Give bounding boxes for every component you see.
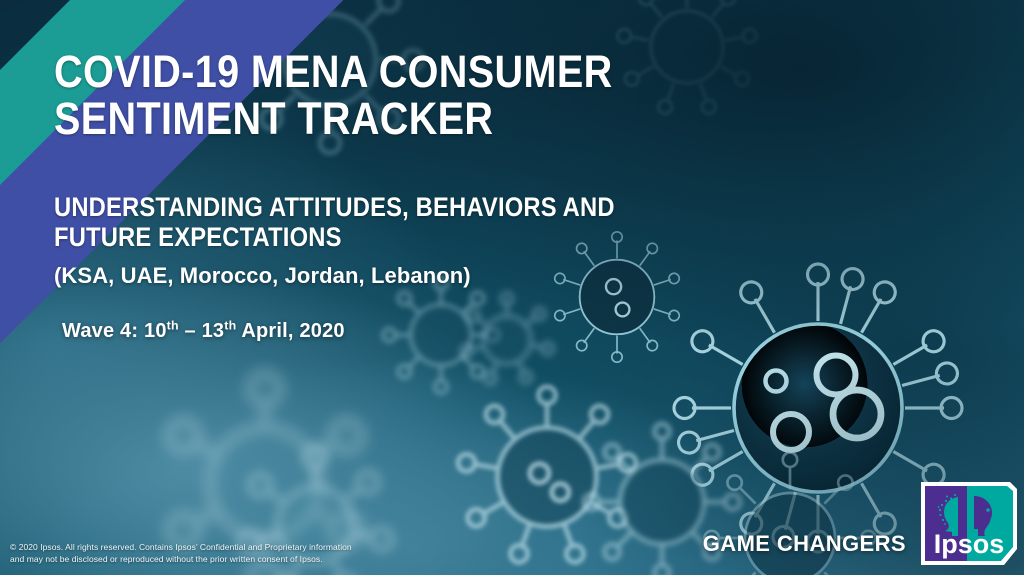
brand-tagline: GAME CHANGERS [703,531,906,557]
wave-middle: – 13 [179,320,224,342]
title-slide: COVID-19 MENA CONSUMER SENTIMENT TRACKER… [0,0,1024,575]
copyright-notice: © 2020 Ipsos. All rights reserved. Conta… [10,542,352,565]
ipsos-logo: Ipsos [918,479,1020,571]
wave-date: Wave 4: 10th – 13th April, 2020 [62,320,345,343]
subtitle-line-1: UNDERSTANDING ATTITUDES, BEHAVIORS AND [54,192,793,222]
copyright-line-1: © 2020 Ipsos. All rights reserved. Conta… [10,542,352,554]
title-line-1: COVID-19 MENA CONSUMER [54,48,758,95]
countries-list: (KSA, UAE, Morocco, Jordan, Lebanon) [54,263,471,289]
wave-suffix: April, 2020 [236,320,344,342]
wave-prefix: Wave 4: 10 [62,320,167,342]
page-subtitle: UNDERSTANDING ATTITUDES, BEHAVIORS AND F… [54,192,793,252]
copyright-line-2: and may not be disclosed or reproduced w… [10,554,352,566]
subtitle-line-2: FUTURE EXPECTATIONS [54,222,793,252]
slide-content: COVID-19 MENA CONSUMER SENTIMENT TRACKER… [0,0,1024,575]
wave-ordinal-1: th [167,318,179,332]
title-line-2: SENTIMENT TRACKER [54,95,758,142]
wave-ordinal-2: th [224,318,236,332]
page-title: COVID-19 MENA CONSUMER SENTIMENT TRACKER [54,48,758,142]
ipsos-wordmark: Ipsos [934,529,1005,559]
